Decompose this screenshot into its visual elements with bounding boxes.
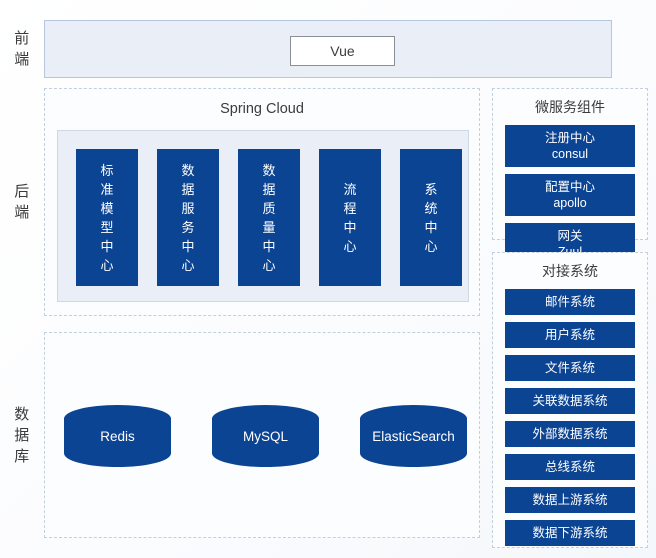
database-label: MySQL [243, 429, 288, 444]
integration-item-linked-data[interactable]: 关联数据系统 [505, 388, 635, 414]
integration-systems-title: 对接系统 [493, 261, 647, 281]
item-primary-label: 注册中心 [505, 130, 635, 146]
item-primary-label: 外部数据系统 [505, 426, 635, 442]
spring-cloud-title: Spring Cloud [45, 101, 479, 117]
service-label-char: 质 [262, 199, 275, 218]
integration-item-external-data[interactable]: 外部数据系统 [505, 421, 635, 447]
service-label-char: 心 [181, 256, 194, 275]
database-node-elasticsearch[interactable]: ElasticSearch [360, 405, 467, 467]
microservice-item-registry[interactable]: 注册中心 consul [505, 125, 635, 167]
database-node-redis[interactable]: Redis [64, 405, 171, 467]
service-label-char: 中 [100, 237, 113, 256]
tier-label-char: 库 [14, 446, 30, 467]
service-label-char: 标 [100, 161, 113, 180]
tier-label-char: 据 [14, 425, 30, 446]
service-label-char: 数 [181, 161, 194, 180]
vue-node[interactable]: Vue [290, 36, 395, 66]
integration-item-upstream-data[interactable]: 数据上游系统 [505, 487, 635, 513]
service-node-system-center[interactable]: 系 统 中 心 [400, 149, 462, 286]
tier-label-char: 前 [14, 28, 30, 49]
item-primary-label: 配置中心 [505, 179, 635, 195]
integration-item-mail[interactable]: 邮件系统 [505, 289, 635, 315]
database-label: ElasticSearch [372, 429, 455, 444]
service-label-char: 模 [100, 199, 113, 218]
service-label-char: 中 [424, 218, 437, 237]
service-label-char: 务 [181, 218, 194, 237]
service-label-char: 心 [100, 256, 113, 275]
service-label-char: 心 [424, 237, 437, 256]
integration-item-downstream-data[interactable]: 数据下游系统 [505, 520, 635, 546]
integration-item-file[interactable]: 文件系统 [505, 355, 635, 381]
item-primary-label: 文件系统 [505, 360, 635, 376]
service-label-char: 流 [343, 180, 356, 199]
service-label-char: 系 [424, 180, 437, 199]
service-label-char: 中 [343, 218, 356, 237]
integration-item-user[interactable]: 用户系统 [505, 322, 635, 348]
service-node-data-quality-center[interactable]: 数 据 质 量 中 心 [238, 149, 300, 286]
vue-label: Vue [330, 43, 354, 59]
service-label-char: 据 [262, 180, 275, 199]
service-node-data-service-center[interactable]: 数 据 服 务 中 心 [157, 149, 219, 286]
service-label-char: 程 [343, 199, 356, 218]
item-primary-label: 邮件系统 [505, 294, 635, 310]
microservice-components-title: 微服务组件 [493, 97, 647, 117]
database-label: Redis [100, 429, 135, 444]
item-primary-label: 数据上游系统 [505, 492, 635, 508]
item-primary-label: 用户系统 [505, 327, 635, 343]
tier-label-char: 端 [14, 49, 30, 70]
item-primary-label: 网关 [505, 228, 635, 244]
item-primary-label: 关联数据系统 [505, 393, 635, 409]
service-label-char: 心 [262, 256, 275, 275]
service-label-char: 型 [100, 218, 113, 237]
service-node-standard-model-center[interactable]: 标 准 模 型 中 心 [76, 149, 138, 286]
tier-label-char: 数 [14, 404, 30, 425]
microservice-components-panel: 微服务组件 注册中心 consul 配置中心 apollo 网关 Zuul [492, 88, 648, 240]
service-label-char: 统 [424, 199, 437, 218]
service-node-process-center[interactable]: 流 程 中 心 [319, 149, 381, 286]
spring-cloud-group: Spring Cloud 标 准 模 型 中 心 数 据 服 务 中 心 数 据 [44, 88, 480, 316]
item-secondary-label: apollo [505, 195, 635, 211]
tier-label-frontend: 前 端 [2, 20, 42, 78]
frontend-panel: Vue [44, 20, 612, 78]
service-label-char: 据 [181, 180, 194, 199]
tier-label-database: 数 据 库 [2, 332, 42, 538]
spring-cloud-inner-panel: 标 准 模 型 中 心 数 据 服 务 中 心 数 据 质 量 中 [57, 130, 469, 302]
tier-label-char: 端 [14, 202, 30, 223]
service-label-char: 量 [262, 218, 275, 237]
service-label-char: 中 [181, 237, 194, 256]
service-label-char: 数 [262, 161, 275, 180]
item-primary-label: 总线系统 [505, 459, 635, 475]
tier-label-backend: 后 端 [2, 88, 42, 316]
integration-systems-panel: 对接系统 邮件系统 用户系统 文件系统 关联数据系统 外部数据系统 总线系统 数… [492, 252, 648, 548]
service-label-char: 服 [181, 199, 194, 218]
item-primary-label: 数据下游系统 [505, 525, 635, 541]
service-label-char: 中 [262, 237, 275, 256]
database-group: Redis MySQL ElasticSearch [44, 332, 480, 538]
service-label-char: 准 [100, 180, 113, 199]
architecture-diagram: 前 端 后 端 数 据 库 Vue Spring Cloud 标 准 模 型 中… [0, 0, 656, 558]
database-node-mysql[interactable]: MySQL [212, 405, 319, 467]
service-label-char: 心 [343, 237, 356, 256]
tier-label-char: 后 [14, 181, 30, 202]
item-secondary-label: consul [505, 146, 635, 162]
integration-item-bus[interactable]: 总线系统 [505, 454, 635, 480]
microservice-item-config[interactable]: 配置中心 apollo [505, 174, 635, 216]
